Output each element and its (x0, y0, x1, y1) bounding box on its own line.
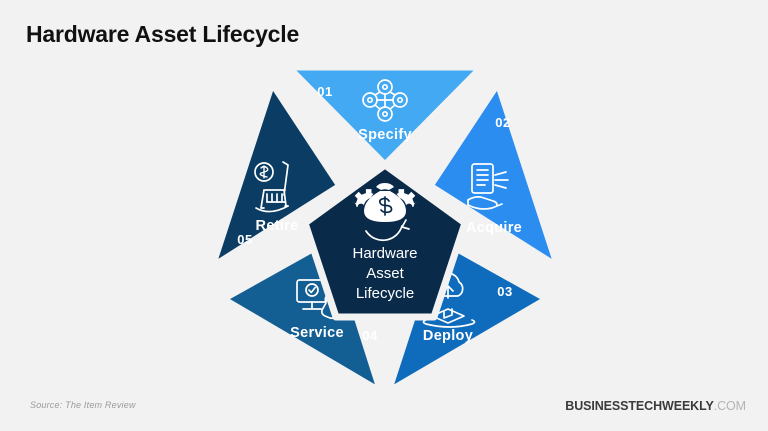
center-hub-line1: Hardware (352, 245, 417, 262)
segment-retire-number: 05 (237, 232, 252, 247)
segment-service-label: Service (290, 325, 344, 341)
segment-specify-number: 01 (317, 84, 332, 99)
page-title: Hardware Asset Lifecycle (26, 21, 299, 48)
center-hub-line2: Asset (366, 265, 404, 282)
segment-deploy-number: 03 (497, 284, 512, 299)
segment-acquire-number: 02 (495, 115, 510, 130)
brand-tld: .COM (714, 399, 746, 413)
segment-acquire-label: Acquire (466, 220, 522, 236)
segment-specify-label: Specify (358, 127, 412, 143)
center-hub-line3: Lifecycle (356, 285, 414, 302)
lifecycle-diagram: 01 Specify (185, 52, 585, 407)
brand-logo[interactable]: BUSINESSTECHWEEKLY.COM (565, 399, 746, 413)
infographic-page: Hardware Asset Lifecycle 01 (0, 0, 768, 431)
segment-deploy-label: Deploy (423, 328, 473, 344)
segment-retire-label: Retire (256, 218, 299, 234)
source-note: Source: The Item Review (30, 400, 136, 410)
brand-name: BUSINESSTECHWEEKLY (565, 399, 713, 413)
segment-service-number: 04 (362, 328, 378, 343)
